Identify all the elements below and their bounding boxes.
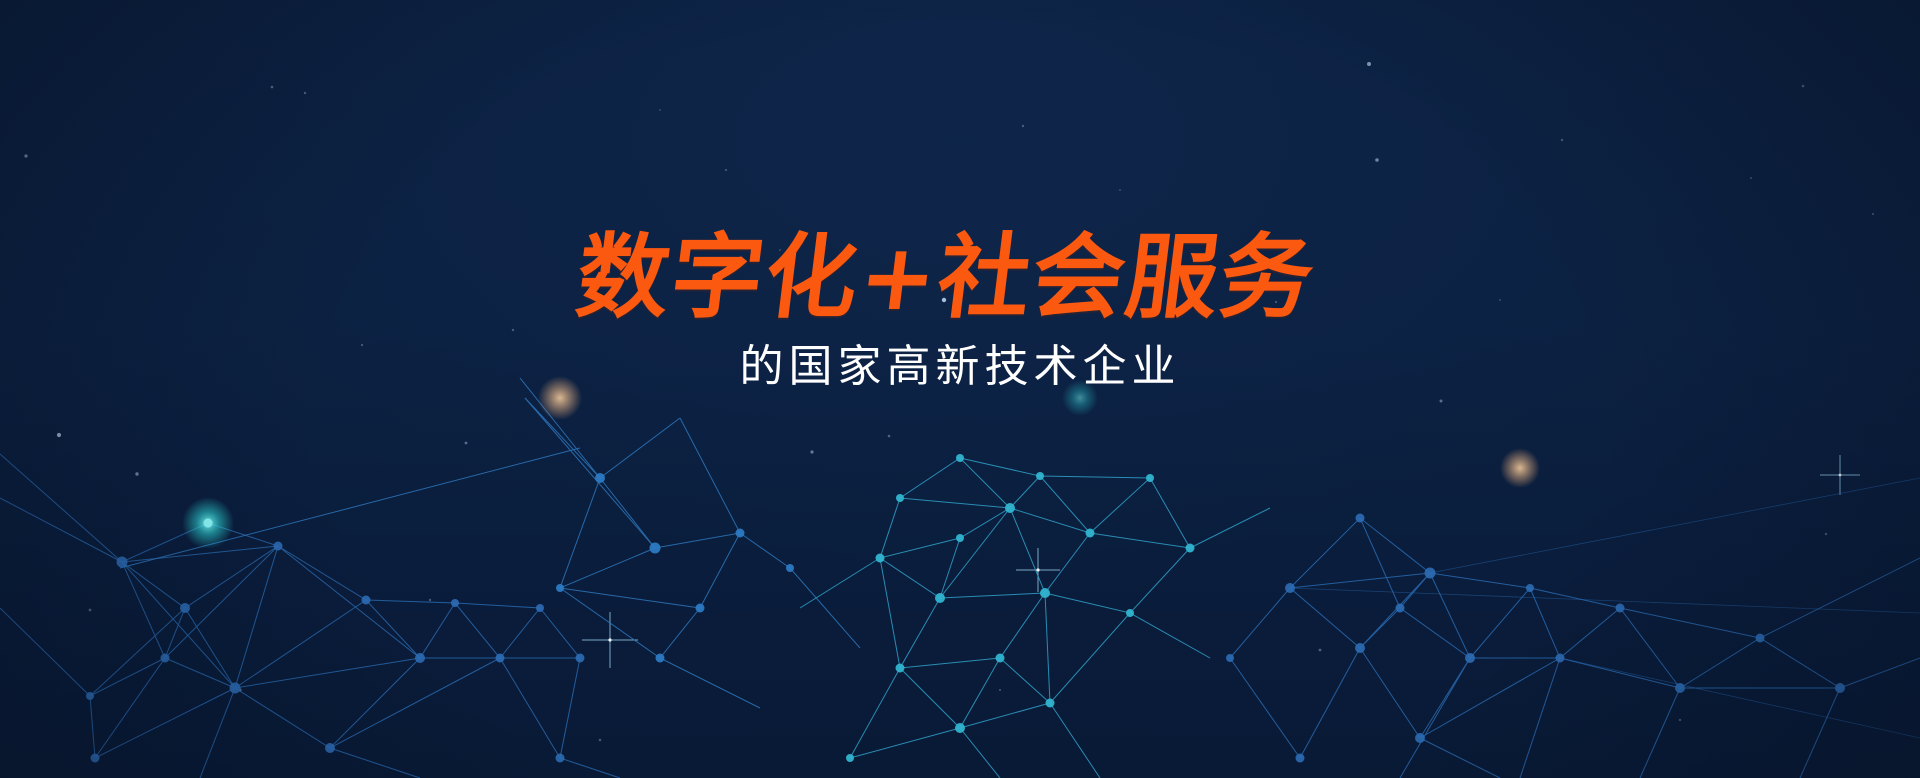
page-subtitle: 的国家高新技术企业 bbox=[0, 341, 1920, 394]
warm-glow-node-2 bbox=[1500, 448, 1540, 488]
network-mesh-graphic bbox=[0, 358, 1920, 778]
page-title: 数字化+社会服务 bbox=[0, 0, 1920, 327]
hero-text-block: 数字化+社会服务 的国家高新技术企业 bbox=[0, 0, 1920, 394]
hero-banner: 数字化+社会服务 的国家高新技术企业 bbox=[0, 0, 1920, 778]
